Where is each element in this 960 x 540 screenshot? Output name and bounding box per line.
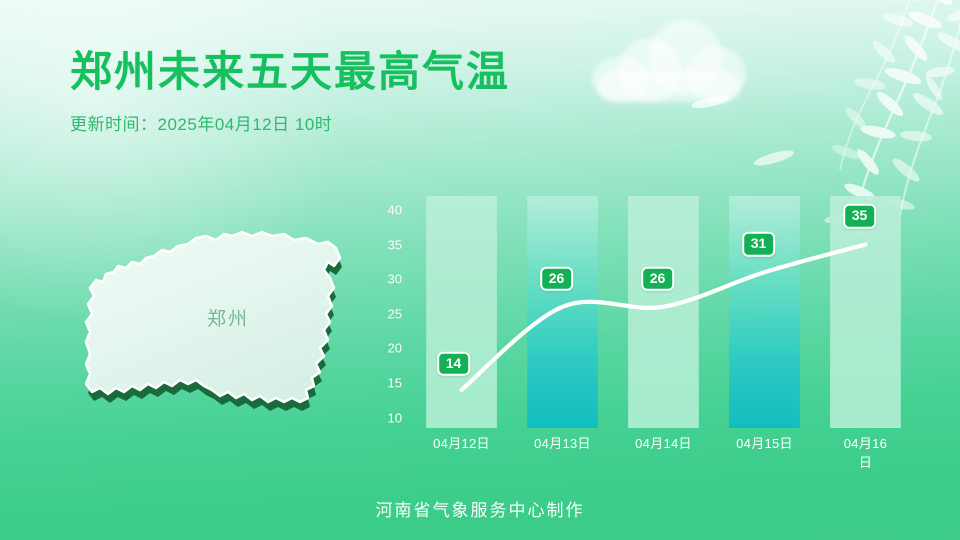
y-axis-tick: 10 xyxy=(368,410,402,425)
map-region-label: 郑州 xyxy=(78,304,378,331)
value-badge: 35 xyxy=(843,204,877,229)
zhengzhou-map: 郑州 xyxy=(62,222,362,452)
y-axis-labels: 10152025303540 xyxy=(368,190,402,440)
y-axis-tick: 30 xyxy=(368,272,402,287)
footer-credit: 河南省气象服务中心制作 xyxy=(0,496,960,521)
chart-bar xyxy=(527,196,598,428)
value-badge: 31 xyxy=(742,232,776,257)
y-axis-tick: 40 xyxy=(368,202,402,217)
chart-bar xyxy=(729,196,800,428)
x-axis-tick: 04月16日 xyxy=(840,433,891,471)
value-badge: 14 xyxy=(437,352,471,377)
y-axis-tick: 20 xyxy=(368,341,402,356)
x-axis-tick: 04月13日 xyxy=(534,433,591,452)
y-axis-tick: 25 xyxy=(368,306,402,321)
chart-bars xyxy=(426,196,901,428)
x-axis-tick: 04月12日 xyxy=(433,433,490,452)
value-badge: 26 xyxy=(641,267,675,292)
chart-bar xyxy=(830,196,901,428)
chart-bar xyxy=(426,196,497,428)
value-badge: 26 xyxy=(540,267,574,292)
temperature-chart: 10152025303540 04月12日04月13日04月14日04月15日0… xyxy=(368,190,916,440)
x-axis-tick: 04月14日 xyxy=(635,433,692,452)
x-axis-tick: 04月15日 xyxy=(736,433,793,452)
y-axis-tick: 15 xyxy=(368,376,402,391)
x-axis-labels: 04月12日04月13日04月14日04月15日04月16日 xyxy=(368,433,916,457)
y-axis-tick: 35 xyxy=(368,237,402,252)
update-time-label: 更新时间：2025年04月12日 10时 xyxy=(70,110,510,135)
chart-bar xyxy=(628,196,699,428)
map-shape-icon xyxy=(62,222,362,452)
page-title: 郑州未来五天最高气温 xyxy=(70,48,510,96)
header: 郑州未来五天最高气温 更新时间：2025年04月12日 10时 xyxy=(70,48,510,135)
chart-canvas xyxy=(368,190,916,440)
